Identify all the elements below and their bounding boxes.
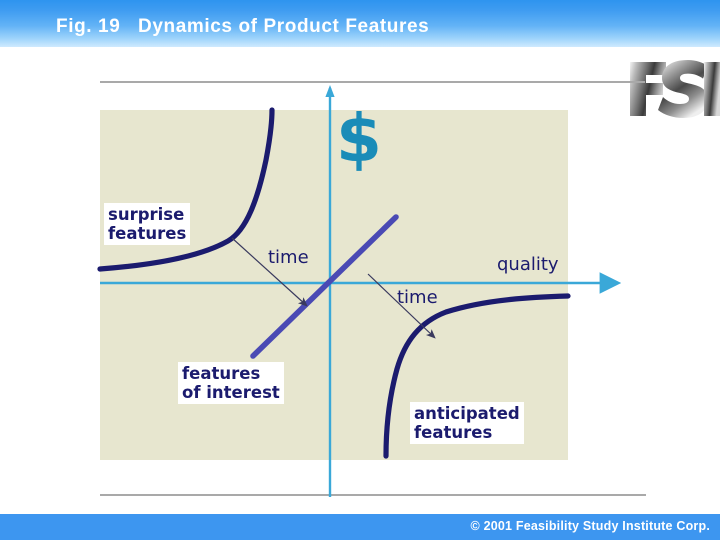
label-features-of-interest: features of interest: [178, 362, 284, 404]
label-anticipated-features: anticipated features: [410, 402, 524, 444]
x-axis-label-quality: quality: [497, 254, 559, 275]
chart-figure: [0, 0, 720, 540]
label-surprise-features: surprise features: [104, 203, 190, 245]
annotation-time-upper: time: [268, 247, 309, 268]
y-axis-label-dollar: $: [336, 106, 382, 172]
annotation-time-lower: time: [397, 287, 438, 308]
copyright-notice: © 2001 Feasibility Study Institute Corp.: [471, 519, 710, 533]
y-axis-arrowhead: [325, 85, 334, 97]
